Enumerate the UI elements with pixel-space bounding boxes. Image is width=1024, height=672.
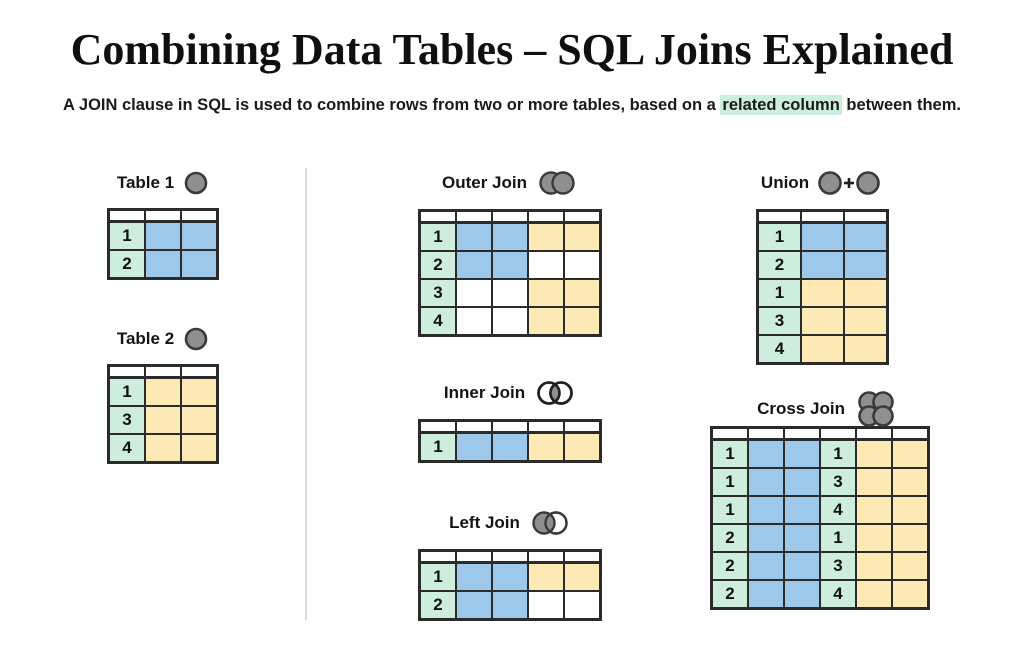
key-cell: 2 [712,580,749,609]
key-cell: 4 [758,335,802,364]
page-subtitle: A JOIN clause in SQL is used to combine … [0,96,1024,115]
data-cell [856,524,892,552]
table-2-label: Table 2 [117,329,174,349]
left-join-label: Left Join [449,513,520,533]
data-cell [145,250,181,279]
data-cell [564,223,601,252]
header-cell [564,211,601,223]
header-cell [492,551,528,563]
inner-join-grid: 1 [418,419,602,463]
key-cell: 1 [712,468,749,496]
table-row: 21 [712,524,929,552]
table-row: 1 [420,223,601,252]
cross-join-body: 11 13 14 21 23 24 [712,428,929,609]
data-cell [856,496,892,524]
subtitle-text-after: between them. [842,96,961,114]
header-cell [528,211,564,223]
data-cell [528,223,564,252]
header-cell [712,428,749,440]
data-cell [145,378,181,407]
data-cell [492,591,528,620]
key-cell: 1 [712,440,749,469]
section-table-2: Table 2 1 3 4 [107,324,219,464]
key-cell: 2 [712,552,749,580]
data-cell [784,552,820,580]
data-cell [492,563,528,592]
union-heading: Union [752,168,889,198]
data-cell [456,251,492,279]
section-cross-join: Cross Join 11 13 14 21 23 24 [710,394,930,610]
key-cell-2: 1 [820,440,856,469]
data-cell [528,433,564,462]
table-row: 4 [758,335,888,364]
data-cell [784,524,820,552]
data-cell [801,279,844,307]
data-cell [801,307,844,335]
left-join-grid: 1 2 [418,549,602,621]
data-cell [181,222,218,251]
table-row: 1 [758,223,888,252]
data-cell [528,307,564,336]
header-cell [181,366,218,378]
table-row: 14 [712,496,929,524]
page-title: Combining Data Tables – SQL Joins Explai… [0,24,1024,75]
data-cell [784,580,820,609]
table-row: 3 [758,307,888,335]
inner-join-body: 1 [420,421,601,462]
subtitle-text-before: A JOIN clause in SQL is used to combine … [63,96,720,114]
data-cell [844,223,888,252]
key-cell: 3 [109,406,146,434]
vertical-divider [305,168,307,620]
table-row: 1 [420,433,601,462]
union-grid: 1 2 1 3 4 [756,209,889,365]
outer-join-heading: Outer Join [418,168,602,198]
section-outer-join: Outer Join 1 2 3 4 [418,168,602,337]
table-2-body: 1 3 4 [109,366,218,463]
table-row [420,211,601,223]
header-cell [844,211,888,223]
four-circles-rosette-icon [854,387,898,431]
data-cell [844,307,888,335]
data-cell [801,335,844,364]
table-2-heading: Table 2 [107,324,219,354]
table-row: 23 [712,552,929,580]
left-join-heading: Left Join [418,508,602,538]
data-cell [784,496,820,524]
header-cell [109,210,146,222]
data-cell [844,279,888,307]
data-cell [748,580,784,609]
data-cell [748,524,784,552]
table-1-label: Table 1 [117,173,174,193]
venn-inner-join-icon [534,380,576,406]
header-cell [528,551,564,563]
data-cell [145,222,181,251]
data-cell [856,580,892,609]
data-cell [456,223,492,252]
data-cell [892,440,929,469]
data-cell [181,250,218,279]
left-join-body: 1 2 [420,551,601,620]
data-cell [181,378,218,407]
key-cell: 2 [109,250,146,279]
data-cell [892,552,929,580]
outer-join-body: 1 2 3 4 [420,211,601,336]
table-row: 2 [420,591,601,620]
data-cell [801,223,844,252]
table-row: 1 [420,563,601,592]
data-cell [564,433,601,462]
table-row: 3 [420,279,601,307]
key-cell-2: 3 [820,468,856,496]
data-cell [456,591,492,620]
data-cell [784,440,820,469]
data-cell [856,440,892,469]
table-row [420,551,601,563]
data-cell [892,468,929,496]
section-table-1: Table 1 1 2 [107,168,219,280]
header-cell [492,211,528,223]
table-row: 24 [712,580,929,609]
section-inner-join: Inner Join 1 [418,378,602,463]
table-row: 3 [109,406,218,434]
single-circle-icon [183,326,209,352]
data-cell [892,580,929,609]
cross-join-label: Cross Join [757,399,845,419]
data-cell [145,406,181,434]
header-cell [528,421,564,433]
key-cell: 1 [420,223,457,252]
key-cell: 1 [109,222,146,251]
header-cell [456,211,492,223]
data-cell [748,552,784,580]
data-cell [856,468,892,496]
key-cell: 4 [420,307,457,336]
table-2-grid: 1 3 4 [107,364,219,464]
header-cell [456,551,492,563]
data-cell [748,468,784,496]
data-cell [528,251,564,279]
header-cell [420,551,457,563]
key-cell: 3 [758,307,802,335]
inner-join-heading: Inner Join [418,378,602,408]
key-cell-2: 4 [820,580,856,609]
header-cell [181,210,218,222]
data-cell [456,563,492,592]
table-row: 4 [109,434,218,463]
key-cell: 4 [109,434,146,463]
data-cell [181,434,218,463]
data-cell [856,552,892,580]
key-cell: 1 [712,496,749,524]
outer-join-label: Outer Join [442,173,527,193]
table-row: 4 [420,307,601,336]
table-row: 1 [109,378,218,407]
header-cell [820,428,856,440]
key-cell: 1 [420,563,457,592]
data-cell [844,251,888,279]
data-cell [528,591,564,620]
data-cell [456,279,492,307]
data-cell [492,279,528,307]
union-label: Union [761,173,809,193]
data-cell [456,433,492,462]
table-1-grid: 1 2 [107,208,219,280]
header-cell [758,211,802,223]
key-cell: 1 [758,279,802,307]
table-row: 2 [109,250,218,279]
two-circles-plus-icon [818,170,880,196]
header-cell [420,421,457,433]
table-row [109,210,218,222]
section-left-join: Left Join 1 2 [418,508,602,621]
union-body: 1 2 1 3 4 [758,211,888,364]
key-cell: 2 [420,251,457,279]
table-1-body: 1 2 [109,210,218,279]
header-cell [420,211,457,223]
table-row [420,421,601,433]
header-cell [748,428,784,440]
table-row [109,366,218,378]
header-cell [784,428,820,440]
inner-join-label: Inner Join [444,383,525,403]
header-cell [564,551,601,563]
header-cell [145,366,181,378]
key-cell: 1 [109,378,146,407]
data-cell [181,406,218,434]
single-circle-icon [183,170,209,196]
data-cell [748,496,784,524]
data-cell [564,251,601,279]
subtitle-highlight-related-column: related column [720,95,841,115]
venn-outer-join-icon [536,170,578,196]
cross-join-heading: Cross Join [710,394,930,424]
data-cell [748,440,784,469]
key-cell: 2 [712,524,749,552]
data-cell [564,307,601,336]
outer-join-grid: 1 2 3 4 [418,209,602,337]
key-cell: 2 [758,251,802,279]
header-cell [564,421,601,433]
header-cell [492,421,528,433]
data-cell [145,434,181,463]
section-union: Union 1 2 1 3 4 [752,168,889,365]
key-cell-2: 3 [820,552,856,580]
data-cell [892,524,929,552]
header-cell [801,211,844,223]
table-row: 1 [758,279,888,307]
data-cell [784,468,820,496]
key-cell-2: 4 [820,496,856,524]
header-cell [145,210,181,222]
key-cell: 2 [420,591,457,620]
table-1-heading: Table 1 [107,168,219,198]
data-cell [801,251,844,279]
table-row [758,211,888,223]
data-cell [844,335,888,364]
table-row: 2 [758,251,888,279]
key-cell: 3 [420,279,457,307]
data-cell [564,591,601,620]
key-cell: 1 [420,433,457,462]
key-cell: 1 [758,223,802,252]
data-cell [892,496,929,524]
data-cell [492,251,528,279]
table-row: 11 [712,440,929,469]
key-cell-2: 1 [820,524,856,552]
data-cell [456,307,492,336]
data-cell [564,279,601,307]
data-cell [492,433,528,462]
data-cell [528,563,564,592]
data-cell [492,307,528,336]
venn-left-join-icon [529,510,571,536]
table-row: 13 [712,468,929,496]
data-cell [528,279,564,307]
cross-join-grid: 11 13 14 21 23 24 [710,426,930,610]
table-row: 1 [109,222,218,251]
table-row: 2 [420,251,601,279]
header-cell [456,421,492,433]
header-cell [109,366,146,378]
data-cell [492,223,528,252]
data-cell [564,563,601,592]
